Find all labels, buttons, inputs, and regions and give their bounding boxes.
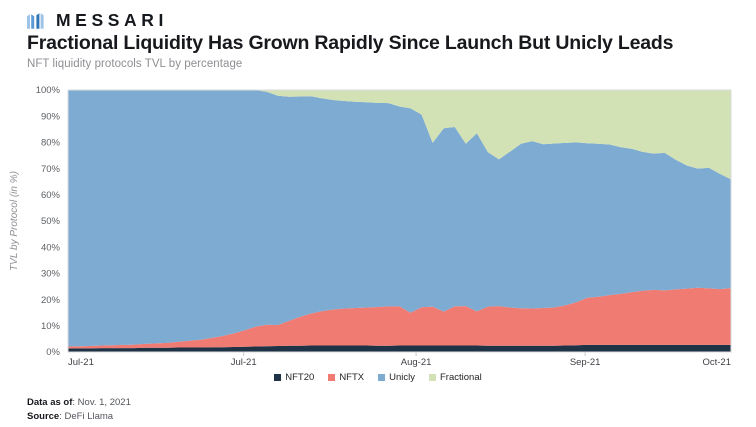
y-axis-tick-80%: 80%	[41, 138, 61, 149]
y-axis-tick-50%: 50%	[41, 216, 61, 227]
y-axis-tick-60%: 60%	[41, 190, 61, 201]
x-axis-tick-0: Jul-21	[68, 357, 94, 368]
footnote-source: Source: DeFi Llama	[27, 410, 131, 424]
y-axis-tick-100%: 100%	[36, 85, 61, 96]
y-axis-tick-labels: 0%10%20%30%40%50%60%70%80%90%100%	[36, 85, 61, 358]
legend-item-nftx[interactable]: NFTX	[328, 372, 364, 383]
chart-plot-area: 0%10%20%30%40%50%60%70%80%90%100% TVL by…	[0, 0, 756, 400]
legend-item-fractional[interactable]: Fractional	[429, 372, 482, 383]
x-axis-tick-labels: Jul-21Jul-21Aug-21Sep-21Oct-21	[68, 352, 731, 368]
source-label: Source	[27, 411, 59, 422]
data-as-of-label: Data as of	[27, 397, 72, 408]
legend-swatch-icon-unicly	[378, 374, 385, 381]
legend-swatch-icon-nftx	[328, 374, 335, 381]
y-axis-tick-0%: 0%	[46, 347, 60, 358]
legend-label: Fractional	[440, 372, 482, 383]
source-value: : DeFi Llama	[59, 411, 113, 422]
y-axis-title: TVL by Protocol (in %)	[9, 171, 20, 271]
y-axis-tick-20%: 20%	[41, 295, 61, 306]
x-axis-tick-2: Aug-21	[401, 357, 432, 368]
chart-page: MESSARI Fractional Liquidity Has Grown R…	[0, 0, 756, 427]
legend-swatch-icon-fractional	[429, 374, 436, 381]
footnote-data-as-of: Data as of: Nov. 1, 2021	[27, 396, 131, 410]
area-series-group	[68, 90, 731, 352]
y-axis-tick-10%: 10%	[41, 321, 61, 332]
legend-item-nft20[interactable]: NFT20	[274, 372, 314, 383]
stacked-area-chart: 0%10%20%30%40%50%60%70%80%90%100% TVL by…	[0, 0, 756, 400]
x-axis-tick-4: Oct-21	[702, 357, 731, 368]
y-axis-label-text: TVL by Protocol (in %)	[9, 171, 20, 271]
data-as-of-value: : Nov. 1, 2021	[72, 397, 130, 408]
y-axis-tick-90%: 90%	[41, 111, 61, 122]
x-axis-tick-3: Sep-21	[570, 357, 601, 368]
chart-legend: NFT20NFTXUniclyFractional	[0, 372, 756, 383]
legend-label: NFTX	[339, 372, 364, 383]
y-axis-tick-40%: 40%	[41, 242, 61, 253]
legend-item-unicly[interactable]: Unicly	[378, 372, 415, 383]
legend-swatch-icon-nft20	[274, 374, 281, 381]
y-axis-tick-70%: 70%	[41, 164, 61, 175]
chart-footnote: Data as of: Nov. 1, 2021 Source: DeFi Ll…	[27, 396, 131, 424]
legend-label: Unicly	[389, 372, 415, 383]
x-axis-tick-1: Jul-21	[231, 357, 257, 368]
legend-label: NFT20	[285, 372, 314, 383]
y-axis-tick-30%: 30%	[41, 269, 61, 280]
